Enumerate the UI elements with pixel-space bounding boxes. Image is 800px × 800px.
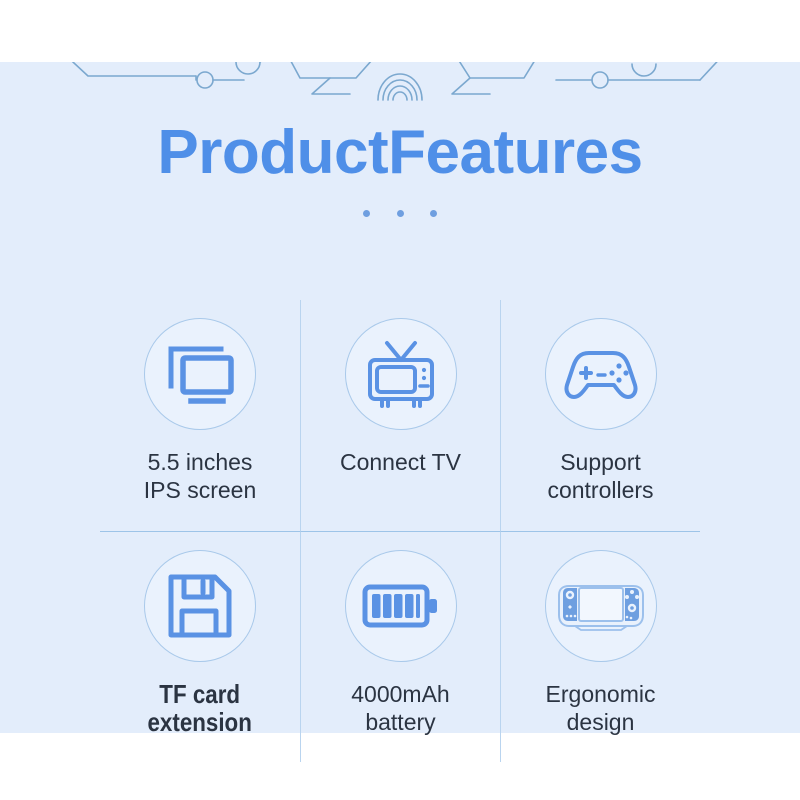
dot-1 <box>363 210 370 217</box>
feature-cell-screen: 5.5 inches IPS screen <box>100 300 300 531</box>
feature-label-tfcard: TF card extension <box>148 680 252 736</box>
feature-label-tv: Connect TV <box>340 448 461 476</box>
dot-2 <box>397 210 404 217</box>
title-dots-decoration <box>0 205 800 219</box>
battery-full-icon <box>345 550 457 662</box>
feature-cell-battery: 4000mAh battery <box>300 531 500 762</box>
handheld-console-icon <box>545 550 657 662</box>
feature-grid: 5.5 inches IPS screen Conn <box>100 300 700 762</box>
feature-cell-controllers: Support controllers <box>500 300 700 531</box>
feature-label-ergonomic: Ergonomic design <box>546 680 656 736</box>
floppy-disk-icon <box>144 550 256 662</box>
dot-3 <box>430 210 437 217</box>
television-icon <box>345 318 457 430</box>
monitor-screen-icon <box>144 318 256 430</box>
gamepad-icon <box>545 318 657 430</box>
feature-cell-tfcard: TF card extension <box>100 531 300 762</box>
circuit-trace-decoration <box>0 62 800 102</box>
feature-cell-tv: Connect TV <box>300 300 500 531</box>
feature-panel: ProductFeatures 5.5 inches IPS screen <box>0 62 800 733</box>
feature-cell-ergonomic: Ergonomic design <box>500 531 700 762</box>
feature-label-screen: 5.5 inches IPS screen <box>144 448 257 504</box>
feature-label-battery: 4000mAh battery <box>351 680 449 736</box>
feature-label-controllers: Support controllers <box>547 448 653 504</box>
page-title: ProductFeatures <box>0 118 800 188</box>
product-features-page: ProductFeatures 5.5 inches IPS screen <box>0 0 800 800</box>
